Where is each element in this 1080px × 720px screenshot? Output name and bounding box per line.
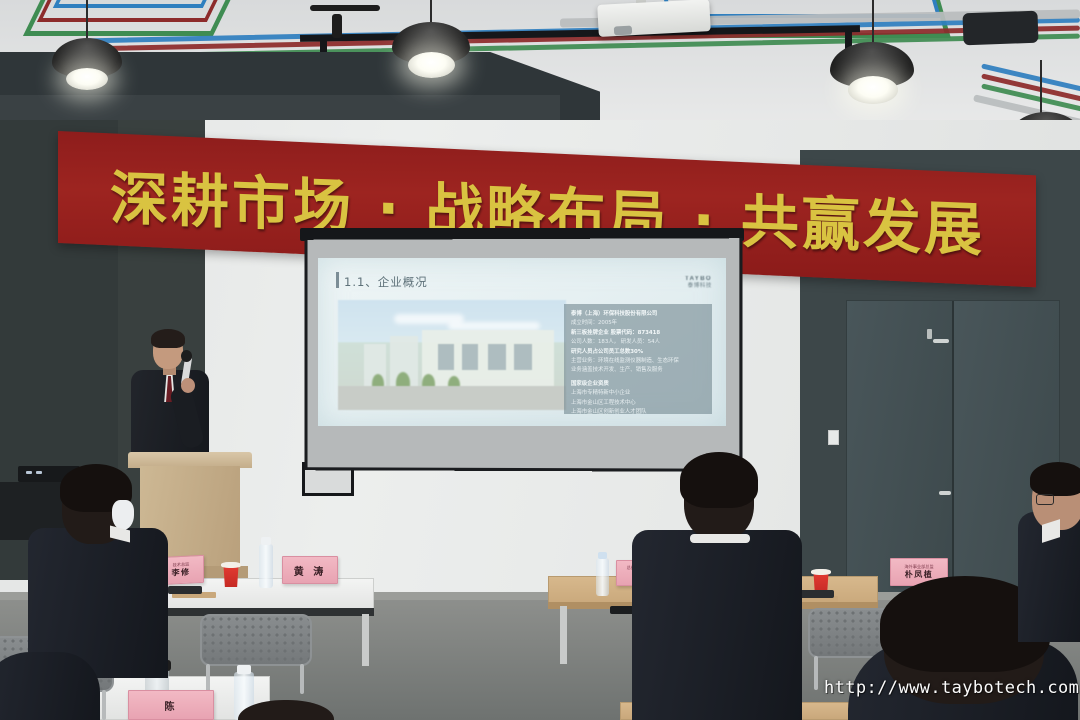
chair-leg [102,690,106,720]
slide-text-line: 业务涵盖技术开发、生产、销售及服务 [571,366,705,375]
name-card-name: 黄 涛 [294,563,326,578]
water-bottle-cap-2 [598,552,607,559]
pendant-bulb-3 [66,68,108,90]
water-bottle-cap-3 [237,665,251,674]
notebook-left [168,586,202,594]
track-light-head [332,14,342,38]
paper-cup-rim-1 [221,562,241,568]
slide-text-line: 上海市金山区创新创业人才团队 [571,408,705,417]
table-back-left-leg [362,614,369,666]
pendant-cord-2 [872,0,874,44]
chair-backrest [200,614,312,666]
pendant-bulb-1 [408,52,455,78]
water-bottle-2 [596,558,609,596]
chair-leg [206,664,210,692]
photo-building-window-4 [514,344,532,370]
name-card-name: 朴凤植 [905,569,934,580]
slide-text-line: 上海市专精特新中小企业 [571,389,705,398]
conference-room-photo: 深耕市场 · 战略布局 · 共赢发展 1.1、企业概况 TAYBO 泰博科技 [0,0,1080,720]
slide-company-logo: TAYBO 泰博科技 [685,276,712,290]
chair-leg [814,656,818,690]
attendee-center-body [632,530,802,720]
photo-building-window-2 [462,344,478,370]
attendee-front-left-body [0,652,100,720]
slide-title-accent-bar [336,272,339,288]
ceiling-frame-blue-left [53,0,229,8]
photo-cloud-2 [448,322,540,330]
chair-leg [300,664,304,694]
slide-text-line: 成立时间：2005年 [571,319,705,328]
logo-text-primary: TAYBO [685,276,712,283]
presenter-hand [181,378,195,393]
attendee-back-left-mask [112,500,134,530]
pendant-cord-4 [1040,60,1042,116]
slide-text-panel: 泰博（上海）环保科技股份有限公司 成立时间：2005年 新三板挂牌企业 股票代码… [564,304,712,414]
slide-text-line: 国家级企业资质 [571,380,705,389]
track-light-arm [310,5,380,11]
slide-text-line: 泰博（上海）环保科技股份有限公司 [571,310,705,319]
photo-building-window-3 [488,344,506,370]
name-card-name: 李修 [172,567,191,579]
pendant-bulb-2 [848,76,898,104]
photo-building-window-1 [438,344,454,370]
door-lock-icon [927,329,932,339]
pendant-cord-3 [86,0,88,40]
watermark-url: http://www.taybotech.com/ [824,678,1080,698]
light-switch[interactable] [828,430,839,445]
attendee-far-right-hair [1030,462,1080,496]
logo-text-secondary: 泰博科技 [685,283,712,290]
paper-cup-rim-2 [811,569,831,575]
slide-text-line: 主营业务：环境在线监测仪器制造、生态环保 [571,357,705,366]
slide-text-line: 研究人员占公司员工总数30% [571,348,705,357]
door-handle-lower[interactable] [939,491,951,495]
slide-text-line: 新三板挂牌企业 股票代码：873418 [571,329,705,338]
presenter-hair [151,329,185,348]
water-bottle-cap-1 [261,537,271,545]
door-handle[interactable] [933,339,949,343]
microphone-head [181,350,192,362]
presentation-slide: 1.1、企业概况 TAYBO 泰博科技 泰博（上海）环保科技股份有限公司 成立时 [318,258,726,426]
name-card-front-left: 陈 [128,690,214,720]
av-equipment-led [36,471,42,474]
slide-title: 1.1、企业概况 [344,274,428,290]
door-center-gap [952,301,954,619]
paper-cup-1 [222,565,240,587]
photo-road [338,386,566,410]
chair-back-left[interactable] [200,614,312,666]
name-card-huangtao: 黄 涛 [282,556,338,584]
table-back-right-leg [560,606,567,664]
av-equipment-led [26,471,32,474]
slide-facility-photo [338,300,566,410]
ceiling-speaker [962,11,1038,46]
attendee-center-hair [680,452,758,508]
attendee-center-collar [690,534,750,543]
pendant-cord-1 [430,0,432,24]
notebook-right [798,590,834,598]
slide-text-line: 上海市金山区工程技术中心 [571,399,705,408]
slide-text-line: 公司人数：183人， 研发人员：54人 [571,338,705,347]
projector-lens [614,26,632,36]
name-card-name: 陈 [165,698,178,713]
attendee-far-right-glasses [1036,494,1054,505]
water-bottle-1 [259,544,273,588]
